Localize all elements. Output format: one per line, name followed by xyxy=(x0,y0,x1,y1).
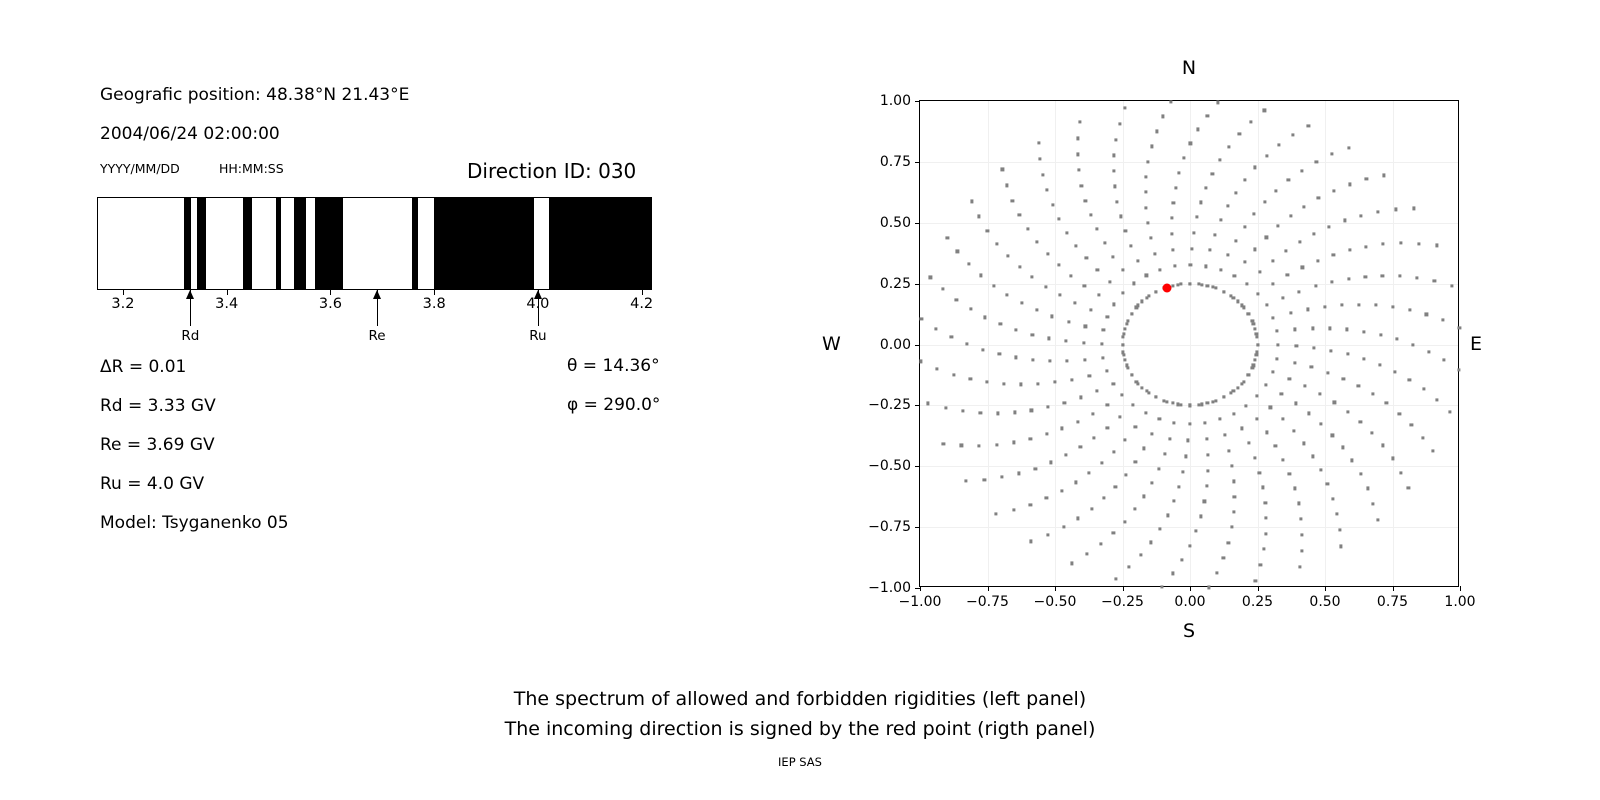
spectrum-axis-tick xyxy=(642,290,643,295)
direction-dot xyxy=(1197,128,1200,131)
direction-dot xyxy=(1155,396,1158,399)
direction-dot xyxy=(1199,515,1202,518)
direction-dot xyxy=(1301,266,1304,269)
direction-dot xyxy=(996,412,999,415)
rigidity-spectrum-panel: Geografic position: 48.38°N 21.43°E 2004… xyxy=(0,0,700,620)
direction-dot xyxy=(1144,411,1147,414)
y-axis-tick xyxy=(915,345,920,346)
incoming-direction-marker xyxy=(1163,284,1172,293)
direction-dot xyxy=(1314,285,1317,288)
direction-dot xyxy=(1163,399,1166,402)
direction-dot xyxy=(1079,396,1082,399)
direction-dot xyxy=(1348,249,1351,252)
gridline-horizontal xyxy=(920,162,1458,163)
direction-dot xyxy=(1119,215,1122,218)
marker-arrow-head-icon xyxy=(373,290,381,299)
caption-line-1: The spectrum of allowed and forbidden ri… xyxy=(0,684,1600,714)
direction-dot xyxy=(1371,432,1374,435)
forbidden-band xyxy=(434,198,534,289)
direction-dot xyxy=(1127,566,1130,569)
direction-dot xyxy=(998,353,1001,356)
direction-dot xyxy=(1435,398,1438,401)
direction-dot xyxy=(1123,438,1126,441)
direction-dot xyxy=(1163,452,1166,455)
direction-dot xyxy=(1330,280,1333,283)
direction-dot xyxy=(1180,403,1183,406)
param-theta: θ = 14.36° xyxy=(567,356,660,376)
direction-dot xyxy=(1188,422,1191,425)
direction-dot xyxy=(1134,425,1137,428)
direction-dot xyxy=(1095,390,1098,393)
direction-dot xyxy=(1365,245,1368,248)
direction-dot xyxy=(1064,454,1067,457)
direction-dot xyxy=(1281,296,1284,299)
direction-dot xyxy=(1329,349,1332,352)
direction-dot xyxy=(1046,252,1049,255)
gridline-vertical xyxy=(1393,101,1394,586)
direction-dot xyxy=(1071,378,1074,381)
direction-dot xyxy=(1294,328,1297,331)
direction-dot xyxy=(1269,406,1272,409)
direction-dot xyxy=(1381,444,1384,447)
direction-dot xyxy=(1292,429,1295,432)
direction-dot xyxy=(1077,169,1080,172)
direction-dot xyxy=(1458,326,1461,329)
direction-dot xyxy=(1394,208,1397,211)
direction-dot xyxy=(1348,183,1351,186)
direction-dot xyxy=(1112,450,1115,453)
direction-dot xyxy=(944,406,947,409)
time-format-hint: HH:MM:SS xyxy=(219,161,284,176)
direction-dot xyxy=(1039,157,1042,160)
direction-dot xyxy=(941,288,944,291)
direction-dot xyxy=(1044,285,1047,288)
direction-dot xyxy=(1271,370,1274,373)
direction-dot xyxy=(969,377,972,380)
direction-dot xyxy=(983,478,986,481)
direction-dot xyxy=(979,411,982,414)
direction-dot xyxy=(1080,184,1083,187)
spectrum-axis-tick-label: 3.4 xyxy=(215,296,238,312)
direction-dot xyxy=(1003,382,1006,385)
direction-dot xyxy=(1450,284,1453,287)
direction-dot xyxy=(1391,305,1394,308)
direction-dot xyxy=(1351,459,1354,462)
y-axis-tick-label: −0.50 xyxy=(868,458,911,474)
direction-dot xyxy=(1036,240,1039,243)
direction-dot xyxy=(1319,422,1322,425)
spectrum-x-axis: 3.23.43.63.84.04.2RdReRu xyxy=(97,290,652,350)
direction-dot xyxy=(979,274,982,277)
marker-arrow-head-icon xyxy=(186,290,194,299)
direction-dot xyxy=(1037,382,1040,385)
direction-dot xyxy=(1041,173,1044,176)
direction-dot xyxy=(1298,290,1301,293)
direction-dot xyxy=(1359,472,1362,475)
direction-dot xyxy=(1045,497,1048,500)
gridline-horizontal xyxy=(920,223,1458,224)
direction-dot xyxy=(1258,471,1261,474)
direction-dot xyxy=(1264,383,1267,386)
direction-dot xyxy=(1058,218,1061,221)
direction-dot xyxy=(1029,437,1032,440)
direction-dot xyxy=(1145,274,1148,277)
direction-dot xyxy=(1219,268,1222,271)
direction-dot xyxy=(1073,301,1076,304)
direction-dot xyxy=(1411,343,1414,346)
direction-dot xyxy=(1381,274,1384,277)
direction-dot xyxy=(1203,500,1206,503)
direction-dot xyxy=(1189,142,1192,145)
direction-dot xyxy=(1330,153,1333,156)
direction-dot xyxy=(1275,357,1278,360)
direction-dot xyxy=(1103,242,1106,245)
direction-dot xyxy=(965,479,968,482)
direction-dot xyxy=(1121,335,1124,338)
direction-dot xyxy=(1145,175,1148,178)
y-axis-tick-label: 1.00 xyxy=(880,93,911,109)
gridline-vertical xyxy=(1190,101,1191,586)
direction-dot xyxy=(1029,503,1032,506)
direction-dot xyxy=(1121,394,1124,397)
direction-dot xyxy=(1172,248,1175,251)
x-axis-tick xyxy=(1190,586,1191,591)
direction-dot xyxy=(1317,197,1320,200)
direction-dot xyxy=(1256,343,1259,346)
direction-dot xyxy=(1142,495,1145,498)
caption-line-2: The incoming direction is signed by the … xyxy=(0,714,1600,744)
direction-dot xyxy=(1338,528,1341,531)
direction-dot xyxy=(1346,353,1349,356)
direction-dot xyxy=(1323,305,1326,308)
direction-dot xyxy=(1012,441,1015,444)
direction-dot xyxy=(1346,410,1349,413)
direction-dot xyxy=(970,200,973,203)
direction-dot xyxy=(1292,133,1295,136)
direction-dot xyxy=(1112,303,1115,306)
direction-dot xyxy=(982,348,985,351)
direction-dot xyxy=(956,250,959,253)
y-axis-tick-label: −0.25 xyxy=(868,397,911,413)
spectrum-bar-container xyxy=(97,197,652,290)
direction-dot xyxy=(1398,412,1401,415)
direction-dot xyxy=(1247,312,1250,315)
x-axis-tick-label: −0.75 xyxy=(966,594,1009,610)
forbidden-band xyxy=(549,198,652,289)
direction-dot xyxy=(1088,374,1091,377)
direction-dot xyxy=(1190,247,1193,250)
direction-dot xyxy=(977,215,980,218)
x-axis-tick-label: 0.50 xyxy=(1309,594,1340,610)
direction-dot xyxy=(1063,401,1066,404)
direction-dot xyxy=(1079,446,1082,449)
direction-dot xyxy=(1158,528,1161,531)
direction-dot xyxy=(1045,189,1048,192)
direction-dot xyxy=(1113,185,1116,188)
direction-dot xyxy=(1359,420,1362,423)
direction-dot xyxy=(1014,356,1017,359)
direction-dot xyxy=(1154,252,1157,255)
direction-dot xyxy=(1275,330,1278,333)
direction-dot xyxy=(1188,282,1191,285)
direction-dot xyxy=(1376,518,1379,521)
direction-dot xyxy=(1130,312,1133,315)
direction-dot xyxy=(1326,482,1329,485)
direction-dot xyxy=(1301,533,1304,536)
date-format-hint: YYYY/MM/DD xyxy=(100,161,180,176)
x-axis-tick xyxy=(1123,586,1124,591)
direction-dot xyxy=(1255,351,1258,354)
direction-dot xyxy=(1030,409,1033,412)
direction-dot xyxy=(946,236,949,239)
y-axis-tick xyxy=(915,527,920,528)
gridline-horizontal xyxy=(920,527,1458,528)
direction-dot xyxy=(1034,467,1037,470)
direction-dot xyxy=(1256,394,1259,397)
direction-dot xyxy=(961,410,964,413)
direction-dot xyxy=(935,327,938,330)
direction-dot xyxy=(1259,563,1262,566)
direction-dot xyxy=(1265,236,1268,239)
direction-dot xyxy=(1357,303,1360,306)
direction-dot xyxy=(1091,412,1094,415)
direction-dot xyxy=(920,317,923,320)
direction-dot xyxy=(1141,300,1144,303)
direction-dot xyxy=(1230,526,1233,529)
spectrum-axis-tick xyxy=(123,290,124,295)
direction-dot xyxy=(1311,455,1314,458)
direction-dot xyxy=(1238,132,1241,135)
direction-dot xyxy=(1253,456,1256,459)
direction-dot xyxy=(1058,294,1061,297)
direction-dot xyxy=(1265,154,1268,157)
direction-dot xyxy=(1408,308,1411,311)
direction-dot xyxy=(1157,467,1160,470)
direction-dot xyxy=(1121,292,1124,295)
direction-dot xyxy=(1119,415,1122,418)
direction-dot xyxy=(1407,486,1410,489)
direction-dot xyxy=(1315,160,1318,163)
direction-dot xyxy=(1070,274,1073,277)
direction-dot xyxy=(1020,383,1023,386)
direction-dot xyxy=(1062,526,1065,529)
direction-dot xyxy=(1084,325,1087,328)
direction-dot xyxy=(1223,434,1226,437)
direction-dot xyxy=(1347,146,1350,149)
direction-dot xyxy=(1226,205,1229,208)
param-ru: Ru = 4.0 GV xyxy=(100,474,204,494)
direction-dot xyxy=(1030,540,1033,543)
direction-dot xyxy=(1145,206,1148,209)
direction-dot xyxy=(1379,333,1382,336)
direction-dot xyxy=(1382,243,1385,246)
y-axis-tick xyxy=(915,101,920,102)
direction-dot xyxy=(1271,259,1274,262)
forbidden-band xyxy=(197,198,206,289)
direction-dot xyxy=(1264,532,1267,535)
y-axis-tick-label: 0.50 xyxy=(880,215,911,231)
direction-dot xyxy=(1219,158,1222,161)
direction-dot xyxy=(1227,541,1230,544)
spectrum-axis-tick xyxy=(227,290,228,295)
direction-dot xyxy=(1427,350,1430,353)
direction-dot xyxy=(1067,320,1070,323)
direction-dot xyxy=(1049,461,1052,464)
y-axis-tick xyxy=(915,284,920,285)
direction-dot xyxy=(1312,232,1315,235)
direction-dot xyxy=(1256,417,1259,420)
spectrum-axis-tick-label: 4.2 xyxy=(630,296,653,312)
direction-dot xyxy=(1218,418,1221,421)
direction-dot xyxy=(1254,327,1257,330)
direction-dot xyxy=(986,229,989,232)
direction-dot xyxy=(1084,199,1087,202)
direction-dot xyxy=(1077,517,1080,520)
direction-dot xyxy=(1017,472,1020,475)
direction-dot xyxy=(1188,544,1191,547)
direction-dot xyxy=(1088,471,1091,474)
direction-dot xyxy=(1114,485,1117,488)
direction-dot xyxy=(1182,156,1185,159)
x-axis-tick xyxy=(1393,586,1394,591)
direction-dot xyxy=(1276,343,1279,346)
direction-dot xyxy=(1195,216,1198,219)
direction-dot xyxy=(1271,316,1274,319)
direction-dot xyxy=(1297,502,1300,505)
direction-dot xyxy=(1234,239,1237,242)
direction-dot xyxy=(1215,571,1218,574)
direction-dot xyxy=(1182,470,1185,473)
direction-dot xyxy=(1206,114,1209,117)
compass-south-label: S xyxy=(919,620,1459,642)
direction-dot xyxy=(955,298,958,301)
direction-dot xyxy=(1435,244,1438,247)
direction-dot xyxy=(1174,186,1177,189)
direction-dot xyxy=(1012,508,1015,511)
direction-dot xyxy=(1254,166,1257,169)
direction-dot xyxy=(1174,265,1177,268)
direction-dot xyxy=(1102,329,1105,332)
direction-dot xyxy=(965,343,968,346)
direction-dot xyxy=(1319,468,1322,471)
direction-dot xyxy=(1251,366,1254,369)
direction-dot xyxy=(1343,219,1346,222)
direction-dot xyxy=(1123,327,1126,330)
direction-dot xyxy=(1100,342,1103,345)
direction-dot xyxy=(1258,270,1261,273)
direction-dot xyxy=(1171,572,1174,575)
x-axis-tick xyxy=(1258,586,1259,591)
direction-dot xyxy=(1255,335,1258,338)
direction-dot xyxy=(1066,359,1069,362)
forbidden-band xyxy=(412,198,418,289)
direction-dot xyxy=(992,284,995,287)
geographic-position-label: Geografic position: 48.38°N 21.43°E xyxy=(100,85,409,105)
direction-dot xyxy=(1194,529,1197,532)
direction-dot xyxy=(1306,308,1309,311)
direction-dot xyxy=(1045,433,1048,436)
direction-dot xyxy=(1457,368,1460,371)
direction-dot xyxy=(1298,565,1301,568)
direction-dot xyxy=(1118,122,1121,125)
direction-dot xyxy=(1013,411,1016,414)
direction-dot xyxy=(935,367,938,370)
direction-dot xyxy=(1046,405,1049,408)
direction-dot xyxy=(1243,261,1246,264)
direction-dot xyxy=(1172,500,1175,503)
direction-dot xyxy=(1206,402,1209,405)
direction-dot xyxy=(969,308,972,311)
direction-dot xyxy=(1131,403,1134,406)
direction-dot xyxy=(1082,341,1085,344)
direction-dot xyxy=(1168,437,1171,440)
direction-dot xyxy=(1130,373,1133,376)
direction-dot xyxy=(1232,510,1235,513)
direction-dot xyxy=(1197,403,1200,406)
forbidden-band xyxy=(184,198,191,289)
direction-dot xyxy=(1357,384,1360,387)
y-axis-tick xyxy=(915,466,920,467)
param-phi: φ = 290.0° xyxy=(567,395,660,415)
direction-dot xyxy=(1123,107,1126,110)
direction-dot xyxy=(1134,460,1137,463)
direction-dot xyxy=(1051,203,1054,206)
spectrum-axis-tick-label: 3.2 xyxy=(111,296,134,312)
direction-dot xyxy=(1300,549,1303,552)
direction-dot xyxy=(1015,328,1018,331)
direction-dot xyxy=(1083,284,1086,287)
direction-id-label: Direction ID: 030 xyxy=(467,159,636,183)
direction-dot xyxy=(1011,199,1014,202)
direction-dot xyxy=(1147,295,1150,298)
direction-dot xyxy=(1206,454,1209,457)
direction-dot xyxy=(1100,461,1103,464)
direction-dot xyxy=(1142,447,1145,450)
compass-north-label: N xyxy=(919,57,1459,79)
direction-dot xyxy=(1180,558,1183,561)
direction-dot xyxy=(1170,100,1173,103)
direction-dot xyxy=(1159,268,1162,271)
direction-dot xyxy=(960,444,963,447)
direction-dot xyxy=(1364,275,1367,278)
param-delta-r: ΔR = 0.01 xyxy=(100,357,186,377)
direction-dot xyxy=(1189,263,1192,266)
direction-dot xyxy=(1075,244,1078,247)
direction-dot xyxy=(1312,346,1315,349)
direction-dot xyxy=(1126,320,1129,323)
direction-dot xyxy=(1121,351,1124,354)
direction-dot xyxy=(929,276,932,279)
direction-dot xyxy=(1415,276,1418,279)
direction-dot xyxy=(1304,384,1307,387)
direction-dot xyxy=(919,360,922,363)
direction-dot xyxy=(1220,219,1223,222)
gridline-vertical xyxy=(1055,101,1056,586)
direction-dot xyxy=(1412,207,1415,210)
direction-dot xyxy=(1391,457,1394,460)
gridline-vertical xyxy=(1325,101,1326,586)
direction-dot xyxy=(1057,263,1060,266)
direction-dot xyxy=(1006,293,1009,296)
param-model: Model: Tsyganenko 05 xyxy=(100,513,289,533)
direction-dot xyxy=(1331,497,1334,500)
direction-dot xyxy=(1171,217,1174,220)
direction-dot xyxy=(1064,340,1067,343)
direction-dot xyxy=(1214,287,1217,290)
direction-dot xyxy=(1076,420,1079,423)
direction-dot xyxy=(1106,403,1109,406)
direction-dot xyxy=(1300,169,1303,172)
